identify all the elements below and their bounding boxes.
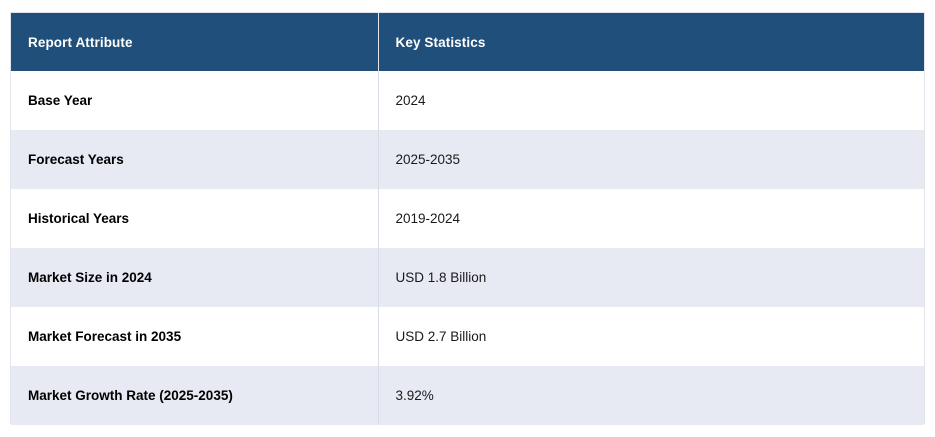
table-header: Report Attribute Key Statistics	[11, 13, 924, 71]
cell-report-attribute: Forecast Years	[11, 130, 378, 189]
column-header-report-attribute: Report Attribute	[11, 13, 378, 71]
column-header-key-statistics: Key Statistics	[378, 13, 924, 71]
table-row: Market Forecast in 2035 USD 2.7 Billion	[11, 307, 924, 366]
table-row: Market Size in 2024 USD 1.8 Billion	[11, 248, 924, 307]
table-body: Base Year 2024 Forecast Years 2025-2035 …	[11, 71, 924, 425]
cell-key-statistic: USD 2.7 Billion	[378, 307, 924, 366]
table-row: Forecast Years 2025-2035	[11, 130, 924, 189]
cell-key-statistic: 2024	[378, 71, 924, 130]
cell-report-attribute: Historical Years	[11, 189, 378, 248]
cell-report-attribute: Market Growth Rate (2025-2035)	[11, 366, 378, 425]
cell-report-attribute: Market Forecast in 2035	[11, 307, 378, 366]
table-row: Base Year 2024	[11, 71, 924, 130]
report-summary-table-container: Report Attribute Key Statistics Base Yea…	[10, 12, 925, 424]
table-header-row: Report Attribute Key Statistics	[11, 13, 924, 71]
report-summary-table: Report Attribute Key Statistics Base Yea…	[11, 13, 924, 425]
cell-key-statistic: 2025-2035	[378, 130, 924, 189]
table-row: Historical Years 2019-2024	[11, 189, 924, 248]
cell-report-attribute: Base Year	[11, 71, 378, 130]
cell-key-statistic: 2019-2024	[378, 189, 924, 248]
cell-key-statistic: USD 1.8 Billion	[378, 248, 924, 307]
cell-report-attribute: Market Size in 2024	[11, 248, 378, 307]
table-row: Market Growth Rate (2025-2035) 3.92%	[11, 366, 924, 425]
cell-key-statistic: 3.92%	[378, 366, 924, 425]
